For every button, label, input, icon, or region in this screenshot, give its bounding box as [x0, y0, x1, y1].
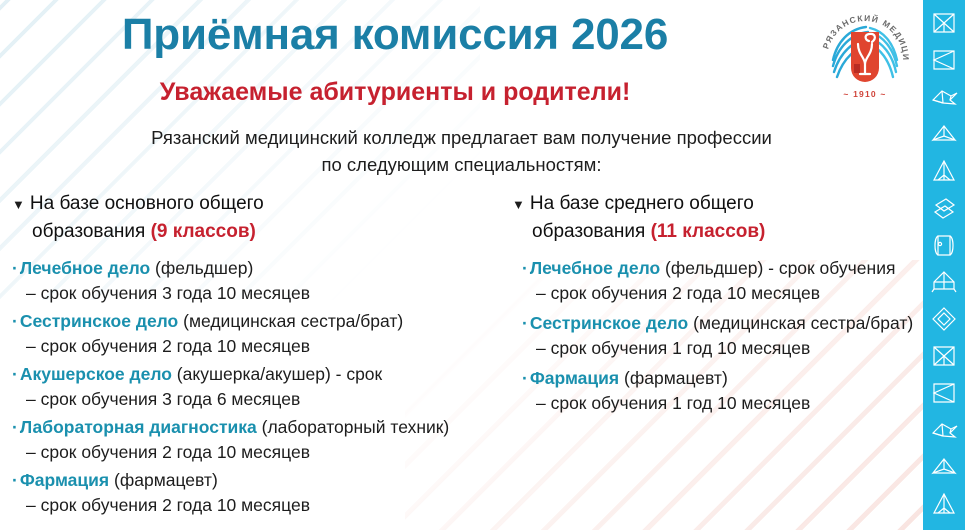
heading-prefix: образования — [532, 221, 651, 242]
specialty-list-base-11: ·Лечебное дело (фельдшер) - срок обучени… — [512, 256, 923, 416]
specialty-name: Сестринское дело — [530, 313, 688, 333]
intro-paragraph: Рязанский медицинский колледж предлагает… — [0, 124, 923, 178]
bullet-icon: · — [12, 417, 18, 437]
list-item: ·Лабораторная диагностика (лабораторный … — [12, 415, 512, 465]
column-heading-base-9: ▼На базе основного общего образования (9… — [12, 190, 512, 245]
list-item: ·Лечебное дело (фельдшер) – срок обучени… — [12, 256, 512, 306]
bullet-icon: · — [12, 258, 18, 278]
intro-line-2: по следующим специальностям: — [0, 151, 923, 178]
origami-triangle-fold-icon — [929, 378, 959, 408]
specialty-qualification: (фармацевт) — [619, 368, 728, 388]
specialty-duration: – срок обучения 3 года 6 месяцев — [12, 387, 512, 412]
specialty-title: ·Фармация (фармацевт) — [512, 366, 923, 391]
origami-arrowhead-icon — [929, 119, 959, 149]
specialties-columns: ▼На базе основного общего образования (9… — [0, 190, 923, 530]
poster-root: Приёмная комиссия 2026 Уважаемые абитури… — [0, 0, 965, 530]
origami-scroll-icon — [929, 230, 959, 260]
specialty-qualification: (фармацевт) — [109, 470, 218, 490]
bullet-icon: · — [12, 470, 18, 490]
specialty-duration: – срок обучения 3 года 10 месяцев — [12, 281, 512, 306]
specialty-name: Лечебное дело — [530, 258, 660, 278]
bullet-icon: · — [522, 368, 528, 388]
origami-envelope-icon — [929, 341, 959, 371]
origami-ribbon-icon — [929, 526, 959, 530]
logo-year-text: ~ 1910 ~ — [843, 89, 886, 99]
specialty-qualification: (медицинская сестра/брат) — [688, 313, 913, 333]
header: Приёмная комиссия 2026 Уважаемые абитури… — [0, 0, 923, 120]
specialty-name: Сестринское дело — [20, 311, 178, 331]
bullet-icon: · — [12, 311, 18, 331]
origami-diamond-icon — [929, 304, 959, 334]
origami-triangle-fold-icon — [929, 45, 959, 75]
column-base-11: ▼На базе среднего общего образования (11… — [512, 190, 923, 421]
origami-lantern-icon — [929, 267, 959, 297]
specialty-qualification: (фельдшер) — [150, 258, 253, 278]
specialty-title: ·Фармация (фармацевт) — [12, 468, 512, 493]
heading-line-1: На базе основного общего — [30, 193, 264, 214]
specialty-title: ·Лечебное дело (фельдшер) - срок обучени… — [512, 256, 923, 281]
specialty-name: Фармация — [20, 470, 109, 490]
origami-envelope-icon — [929, 8, 959, 38]
heading-line-2: образования (9 классов) — [12, 218, 512, 245]
specialty-name: Лечебное дело — [20, 258, 150, 278]
specialty-name: Фармация — [530, 368, 619, 388]
list-item: ·Акушерское дело (акушерка/акушер) - сро… — [12, 362, 512, 412]
bullet-icon: · — [522, 313, 528, 333]
column-heading-base-11: ▼На базе среднего общего образования (11… — [512, 190, 923, 245]
specialty-qualification: (акушерка/акушер) - срок — [172, 364, 382, 384]
list-item: ·Лечебное дело (фельдшер) - срок обучени… — [512, 256, 923, 306]
specialty-qualification: (медицинская сестра/брат) — [178, 311, 403, 331]
heading-highlight: (11 классов) — [651, 221, 766, 242]
specialty-qualification: (фельдшер) - срок обучения — [660, 258, 895, 278]
specialty-list-base-9: ·Лечебное дело (фельдшер) – срок обучени… — [12, 256, 512, 518]
decorative-icon-rail — [923, 0, 965, 530]
origami-bird-icon — [929, 415, 959, 445]
specialty-duration: – срок обучения 2 года 10 месяцев — [12, 493, 512, 518]
heading-line-2: образования (11 классов) — [512, 218, 923, 245]
specialty-duration: – срок обучения 1 год 10 месяцев — [512, 391, 923, 416]
origami-spire-icon — [929, 489, 959, 519]
page-title: Приёмная комиссия 2026 — [0, 10, 790, 60]
origami-bird-icon — [929, 82, 959, 112]
college-logo: РЯЗАНСКИЙ МЕДИЦИНСКИЙ КОЛЛЕДЖ ~ 1910 ~ — [813, 2, 917, 106]
triangle-marker-icon: ▼ — [512, 197, 525, 212]
list-item: ·Сестринское дело (медицинская сестра/бр… — [512, 311, 923, 361]
list-item: ·Фармация (фармацевт) – срок обучения 1 … — [512, 366, 923, 416]
heading-highlight: (9 классов) — [151, 221, 256, 242]
intro-line-1: Рязанский медицинский колледж предлагает… — [0, 124, 923, 151]
specialty-duration: – срок обучения 1 год 10 месяцев — [512, 336, 923, 361]
origami-ribbon-icon — [929, 193, 959, 223]
list-item: ·Сестринское дело (медицинская сестра/бр… — [12, 309, 512, 359]
triangle-marker-icon: ▼ — [12, 197, 25, 212]
heading-prefix: образования — [32, 221, 151, 242]
specialty-duration: – срок обучения 2 года 10 месяцев — [12, 334, 512, 359]
origami-arrowhead-icon — [929, 452, 959, 482]
origami-spire-icon — [929, 156, 959, 186]
specialty-title: ·Сестринское дело (медицинская сестра/бр… — [12, 309, 512, 334]
specialty-name: Лабораторная диагностика — [20, 417, 257, 437]
specialty-title: ·Акушерское дело (акушерка/акушер) - сро… — [12, 362, 512, 387]
specialty-duration: – срок обучения 2 года 10 месяцев — [512, 281, 923, 306]
specialty-title: ·Лечебное дело (фельдшер) — [12, 256, 512, 281]
bullet-icon: · — [522, 258, 528, 278]
page-subtitle: Уважаемые абитуриенты и родители! — [0, 78, 790, 107]
heading-line-1: На базе среднего общего — [530, 193, 754, 214]
specialty-title: ·Лабораторная диагностика (лабораторный … — [12, 415, 512, 440]
specialty-title: ·Сестринское дело (медицинская сестра/бр… — [512, 311, 923, 336]
specialty-name: Акушерское дело — [20, 364, 172, 384]
column-base-9: ▼На базе основного общего образования (9… — [12, 190, 512, 521]
list-item: ·Фармация (фармацевт) – срок обучения 2 … — [12, 468, 512, 518]
bullet-icon: · — [12, 364, 18, 384]
specialty-duration: – срок обучения 2 года 10 месяцев — [12, 440, 512, 465]
specialty-qualification: (лабораторный техник) — [257, 417, 449, 437]
